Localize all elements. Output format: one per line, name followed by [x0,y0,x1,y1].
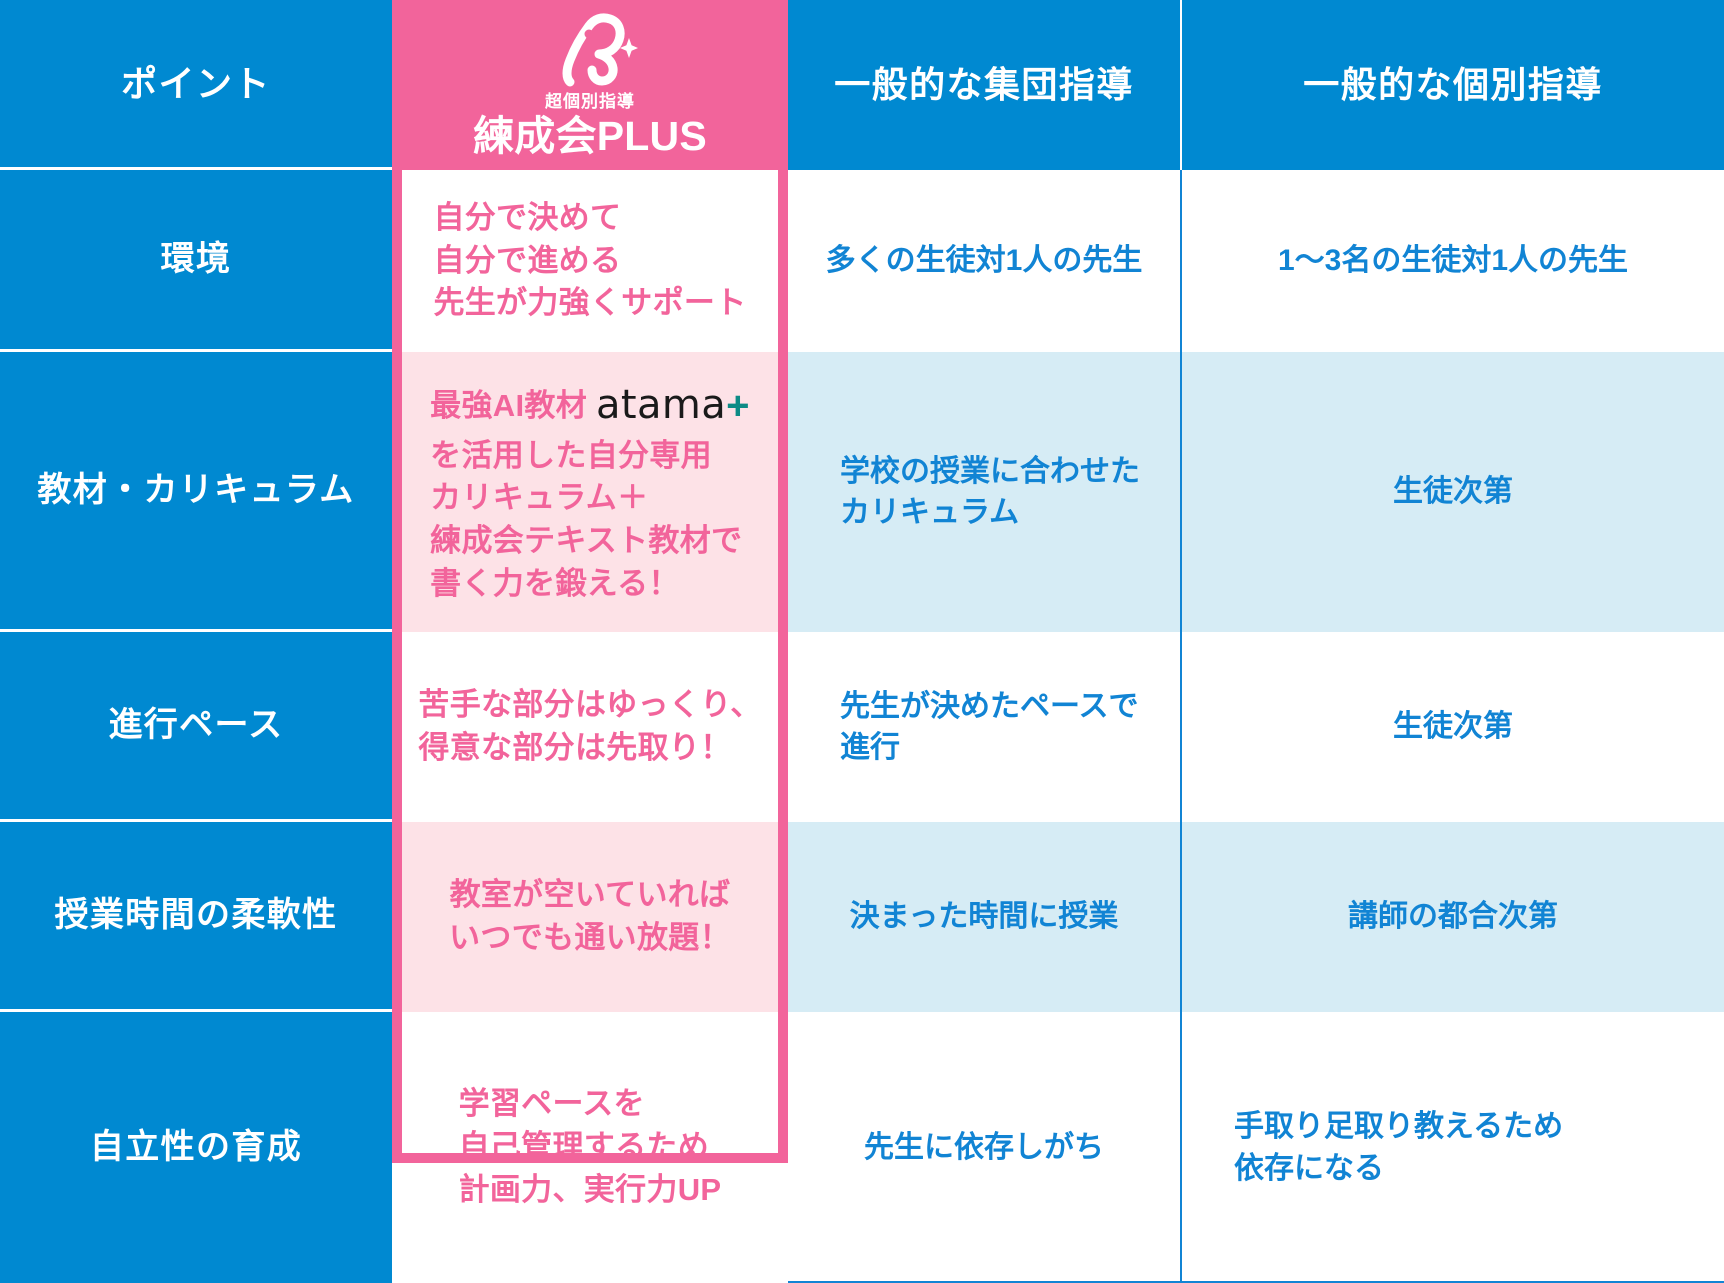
cell-group-environment: 多くの生徒対1人の先生 [788,170,1180,352]
comparison-table: ポイント 超個別指導 練成会PLUS 一般的な集団指導 一般的な個別指導 環境 [0,0,1724,1283]
group-cell-line: カリキュラム [840,492,1140,533]
header-individual-label: 一般的な個別指導 [1303,60,1603,110]
row-label-independence-development: 自立性の育成 [0,1012,392,1283]
plus-cell-line: 自己管理するため [459,1126,722,1169]
plus-cell-line: 自分で決めて [433,197,746,240]
individual-cell-line: 依存になる [1234,1148,1563,1189]
cell-plus-environment: 自分で決めて 自分で進める 先生が力強くサポート [392,170,788,352]
plus-cell-text: 苦手な部分はゆっくり、 得意な部分は先取り！ [418,684,761,770]
cell-individual-progress-pace: 生徒次第 [1180,632,1724,822]
individual-cell-text: 1〜3名の生徒対1人の先生 [1278,240,1628,281]
plus-cell-line: 練成会テキスト教材で [430,520,750,563]
cell-plus-materials-curriculum: 最強AI教材 atama+ を活用した自分専用 カリキュラム＋ 練成会テキスト教… [392,352,788,632]
group-cell-text: 多くの生徒対1人の先生 [826,240,1143,281]
row-label-text: 環境 [161,236,232,283]
atama-prefix-label: 最強AI教材 [430,388,587,423]
individual-cell-line: 手取り足取り教えるため [1234,1106,1563,1147]
cell-group-progress-pace: 先生が決めたペースで 進行 [788,632,1180,822]
row-label-materials-curriculum: 教材・カリキュラム [0,352,392,632]
plus-cell-line: 書く力を鍛える！ [430,563,750,606]
group-cell-text: 学校の授業に合わせた カリキュラム [840,451,1140,534]
plus-cell-line: 先生が力強くサポート [433,282,746,325]
group-cell-text: 決まった時間に授業 [850,896,1119,937]
plus-cell-line: 得意な部分は先取り！ [418,727,761,770]
individual-cell-text: 生徒次第 [1393,471,1513,512]
individual-cell-text: 生徒次第 [1393,706,1513,747]
header-group-instruction: 一般的な集団指導 [788,0,1180,170]
plus-cell-line: いつでも通い放題！ [449,917,731,960]
cell-individual-lesson-time-flexibility: 講師の都合次第 [1180,822,1724,1012]
atama-wordmark: atama [596,382,726,428]
plus-cell-line: 計画力、実行力UP [459,1169,722,1212]
renseikai-plus-logo: 超個別指導 練成会PLUS [473,12,707,158]
plus-cell-text: 教室が空いていれば いつでも通い放題！ [449,874,731,960]
row-label-progress-pace: 進行ペース [0,632,392,822]
individual-cell-line: 生徒次第 [1393,706,1513,747]
logo-tagline: 超個別指導 [545,90,635,113]
header-individual-instruction: 一般的な個別指導 [1180,0,1724,170]
cell-plus-lesson-time-flexibility: 教室が空いていれば いつでも通い放題！ [392,822,788,1012]
cell-individual-independence-development: 手取り足取り教えるため 依存になる [1180,1012,1724,1283]
individual-cell-text: 講師の都合次第 [1348,896,1558,937]
plus-cell-line: 自分で進める [433,240,746,283]
plus-cell-line: 苦手な部分はゆっくり、 [418,684,761,727]
plus-cell-line: を活用した自分専用 [430,435,750,478]
group-cell-line: 先生が決めたペースで [840,686,1139,727]
cell-individual-environment: 1〜3名の生徒対1人の先生 [1180,170,1724,352]
atama-plus-icon: + [726,384,750,428]
group-cell-line: 進行 [840,727,1139,768]
renseikai-r-sparkle-icon [542,12,638,88]
group-cell-text: 先生に依存しがち [864,1127,1104,1168]
plus-cell-line: 学習ペースを [459,1083,722,1126]
header-group-label: 一般的な集団指導 [834,60,1134,110]
individual-cell-line: 講師の都合次第 [1348,896,1558,937]
row-label-text: 教材・カリキュラム [37,467,354,514]
table-grid: ポイント 超個別指導 練成会PLUS 一般的な集団指導 一般的な個別指導 環境 [0,0,1724,1283]
individual-cell-line: 1〜3名の生徒対1人の先生 [1278,240,1628,281]
cell-group-materials-curriculum: 学校の授業に合わせた カリキュラム [788,352,1180,632]
group-cell-text: 先生が決めたペースで 進行 [840,686,1139,769]
plus-cell-line: 教室が空いていれば [449,874,731,917]
header-point-label: ポイント [121,59,271,109]
row-label-text: 授業時間の柔軟性 [55,892,338,939]
row-label-lesson-time-flexibility: 授業時間の柔軟性 [0,822,392,1012]
row-label-text: 自立性の育成 [90,1124,302,1171]
individual-cell-text: 手取り足取り教えるため 依存になる [1234,1106,1563,1189]
group-cell-line: 学校の授業に合わせた [840,451,1140,492]
cell-plus-progress-pace: 苦手な部分はゆっくり、 得意な部分は先取り！ [392,632,788,822]
plus-cell-text: 学習ペースを 自己管理するため 計画力、実行力UP [459,1083,722,1211]
cell-plus-independence-development: 学習ペースを 自己管理するため 計画力、実行力UP [392,1012,788,1283]
group-cell-line: 決まった時間に授業 [850,896,1119,937]
row-label-environment: 環境 [0,170,392,352]
individual-cell-line: 生徒次第 [1393,471,1513,512]
logo-name: 練成会PLUS [473,115,707,158]
cell-group-lesson-time-flexibility: 決まった時間に授業 [788,822,1180,1012]
plus-cell-text: 最強AI教材 atama+ を活用した自分専用 カリキュラム＋ 練成会テキスト教… [430,378,750,605]
group-cell-line: 多くの生徒対1人の先生 [826,240,1143,281]
header-point: ポイント [0,0,392,170]
cell-group-independence-development: 先生に依存しがち [788,1012,1180,1283]
cell-individual-materials-curriculum: 生徒次第 [1180,352,1724,632]
plus-cell-line-with-atama-logo: 最強AI教材 atama+ [430,378,750,434]
group-cell-line: 先生に依存しがち [864,1127,1104,1168]
row-label-text: 進行ペース [108,702,283,749]
plus-cell-text: 自分で決めて 自分で進める 先生が力強くサポート [433,197,746,325]
plus-cell-line: カリキュラム＋ [430,477,750,520]
